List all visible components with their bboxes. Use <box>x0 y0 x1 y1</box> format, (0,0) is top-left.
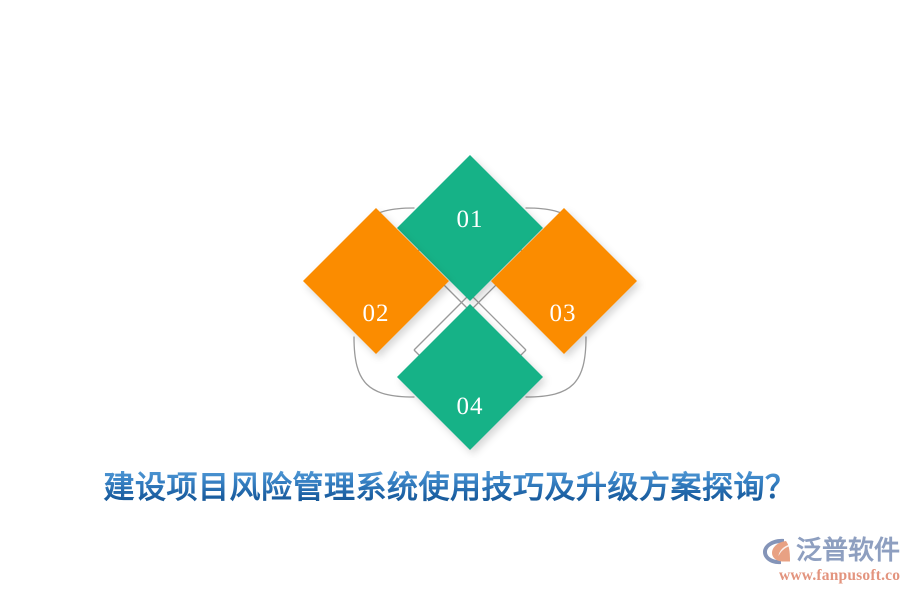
brand-logo: 泛普软件 www.fanpusoft.com <box>762 536 894 592</box>
fanpu-swoosh-icon <box>762 536 794 566</box>
logo-row: 泛普软件 <box>762 536 900 566</box>
diagram-graphics <box>280 130 660 475</box>
logo-company-name: 泛普软件 <box>796 536 900 566</box>
diamond-node-04[interactable] <box>397 304 543 450</box>
four-diamond-diagram: 01 02 03 04 <box>280 130 660 475</box>
page-title: 建设项目风险管理系统使用技巧及升级方案探询？ <box>0 462 900 507</box>
slide-canvas: 01 02 03 04 建设项目风险管理系统使用技巧及升级方案探询？ 泛普软件 … <box>0 0 900 600</box>
logo-url: www.fanpusoft.com <box>779 567 900 585</box>
